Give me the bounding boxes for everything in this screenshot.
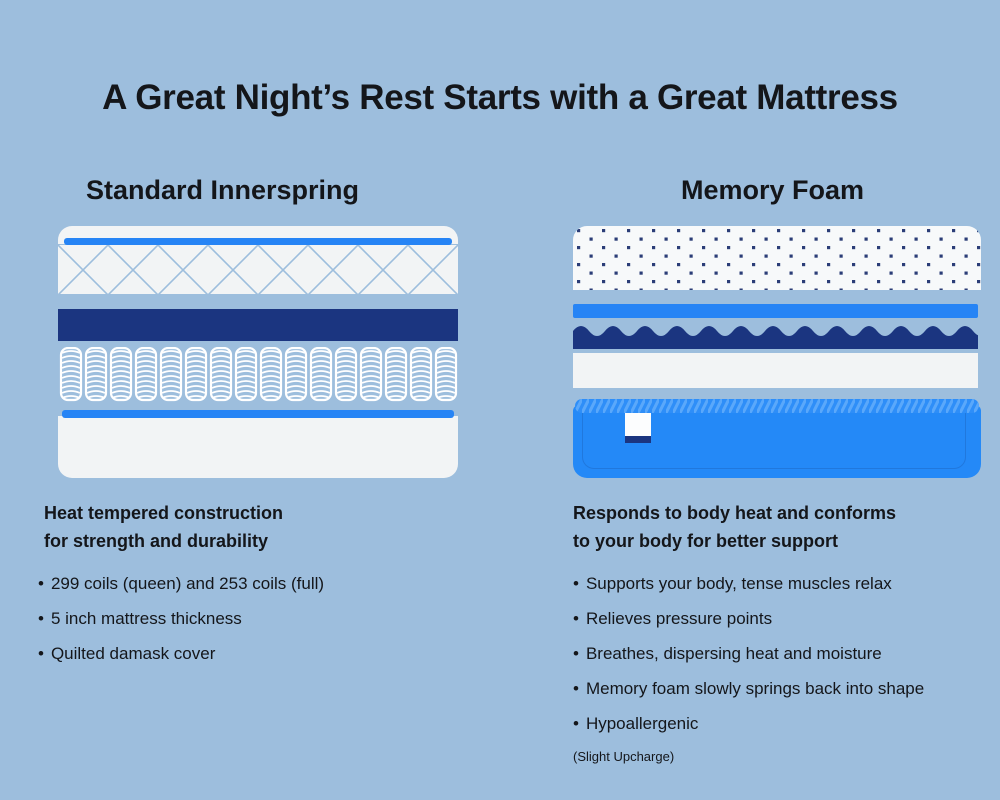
bullet-marker-icon: • xyxy=(573,574,579,593)
bullet-marker-icon: • xyxy=(573,609,579,628)
heading-standard-innerspring: Standard Innerspring xyxy=(30,170,415,210)
innerspring-foundation-base xyxy=(58,416,458,478)
innerspring-blue-binding-top xyxy=(64,238,452,245)
innerspring-blue-binding-bottom xyxy=(62,410,454,418)
heading-memory-foam: Memory Foam xyxy=(565,170,980,210)
lede-memory-foam: Responds to body heat and conforms to yo… xyxy=(573,500,995,556)
list-item-label: Hypoallergenic xyxy=(586,714,698,733)
bullet-marker-icon: • xyxy=(38,574,44,593)
foam-base-striped-rail xyxy=(575,399,979,413)
list-item-label: 5 inch mattress thickness xyxy=(51,609,242,628)
innerspring-mattress-diagram xyxy=(58,226,458,478)
list-item-label: Relieves pressure points xyxy=(586,609,772,628)
list-item: •Memory foam slowly springs back into sh… xyxy=(573,679,995,699)
bullet-marker-icon: • xyxy=(573,714,579,733)
innerspring-navy-foam-layer xyxy=(58,309,458,341)
bullet-marker-icon: • xyxy=(38,644,44,663)
list-item-label: Quilted damask cover xyxy=(51,644,215,663)
list-item: •Hypoallergenic xyxy=(573,714,995,734)
foam-blue-comfort-layer xyxy=(573,304,978,318)
lede-line: for strength and durability xyxy=(44,528,470,556)
list-item: •Quilted damask cover xyxy=(38,644,470,664)
foam-white-support-layer xyxy=(573,353,978,388)
list-item: •5 inch mattress thickness xyxy=(38,609,470,629)
foam-blue-foundation-base xyxy=(573,399,981,478)
list-item-label: Breathes, dispersing heat and moisture xyxy=(586,644,882,663)
list-item: •Breathes, dispersing heat and moisture xyxy=(573,644,995,664)
lede-line: Heat tempered construction xyxy=(44,500,470,528)
footnote-slight-upcharge: (Slight Upcharge) xyxy=(573,749,995,764)
bullet-marker-icon: • xyxy=(573,679,579,698)
bullet-list-memory-foam: •Supports your body, tense muscles relax… xyxy=(573,574,995,734)
column-memory-foam: Memory Foam xyxy=(565,170,995,764)
lede-standard-innerspring: Heat tempered construction for strength … xyxy=(44,500,470,556)
list-item: •299 coils (queen) and 253 coils (full) xyxy=(38,574,470,594)
list-item: •Supports your body, tense muscles relax xyxy=(573,574,995,594)
list-item-label: Memory foam slowly springs back into sha… xyxy=(586,679,924,698)
lede-line: to your body for better support xyxy=(573,528,995,556)
bullet-list-standard-innerspring: •299 coils (queen) and 253 coils (full) … xyxy=(38,574,470,664)
page-title: A Great Night’s Rest Starts with a Great… xyxy=(0,78,1000,118)
foam-dotted-top-cover xyxy=(573,226,981,290)
memory-foam-mattress-diagram xyxy=(573,226,981,478)
bullet-marker-icon: • xyxy=(573,644,579,663)
innerspring-coil-spring-layer xyxy=(58,347,458,403)
column-standard-innerspring: Standard Innerspring xyxy=(30,170,470,679)
foam-white-label-tag xyxy=(625,413,651,443)
innerspring-diamond-quilted-layer xyxy=(58,245,458,294)
list-item: •Relieves pressure points xyxy=(573,609,995,629)
list-item-label: 299 coils (queen) and 253 coils (full) xyxy=(51,574,324,593)
bullet-marker-icon: • xyxy=(38,609,44,628)
list-item-label: Supports your body, tense muscles relax xyxy=(586,574,892,593)
lede-line: Responds to body heat and conforms xyxy=(573,500,995,528)
foam-navy-wave-layer xyxy=(573,323,978,349)
